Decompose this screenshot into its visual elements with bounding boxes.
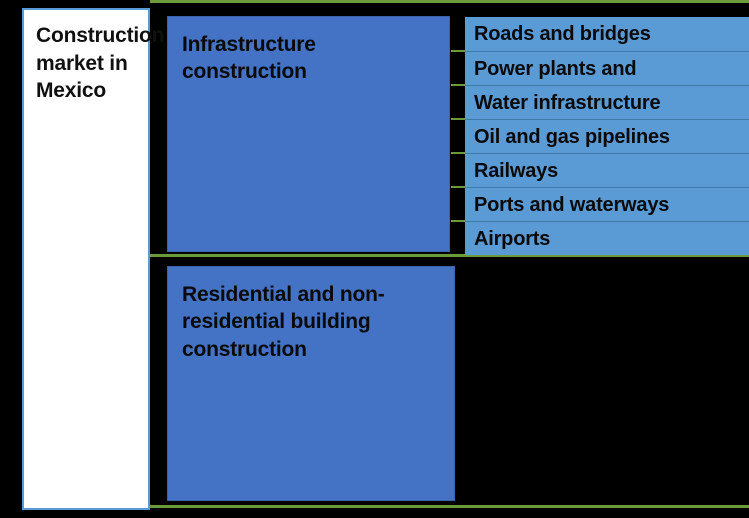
- connector-stub-1: [451, 50, 465, 52]
- leaf-node-label: Ports and waterways: [465, 195, 669, 215]
- diagram-canvas: Construction market in Mexico Infrastruc…: [0, 0, 749, 518]
- leaf-node-airports[interactable]: Airports: [465, 221, 749, 255]
- root-node-label: Construction market in Mexico: [24, 10, 148, 105]
- connector-stub-6: [451, 220, 465, 222]
- leaf-node-label: Water infrastructure: [465, 93, 660, 113]
- branch-node-infrastructure-construction[interactable]: Infrastructure construction: [167, 16, 450, 252]
- leaf-node-list: Roads and bridges Power plants and Water…: [465, 17, 749, 255]
- branch-node-label: Residential and non-residential building…: [168, 267, 454, 363]
- leaf-node-power-plants-and[interactable]: Power plants and: [465, 51, 749, 85]
- root-node-construction-market[interactable]: Construction market in Mexico: [22, 8, 150, 510]
- leaf-node-railways[interactable]: Railways: [465, 153, 749, 187]
- leaf-node-label: Power plants and: [465, 59, 636, 79]
- leaf-node-label: Oil and gas pipelines: [465, 127, 670, 147]
- leaf-node-roads-and-bridges[interactable]: Roads and bridges: [465, 17, 749, 51]
- branch-node-label: Infrastructure construction: [168, 17, 449, 86]
- leaf-node-label: Airports: [465, 229, 550, 249]
- connector-line-top: [150, 0, 749, 3]
- connector-stub-4: [451, 152, 465, 154]
- connector-stub-3: [451, 118, 465, 120]
- connector-stub-5: [451, 186, 465, 188]
- branch-node-residential-building-construction[interactable]: Residential and non-residential building…: [167, 266, 455, 501]
- leaf-node-ports-and-waterways[interactable]: Ports and waterways: [465, 187, 749, 221]
- leaf-node-water-infrastructure[interactable]: Water infrastructure: [465, 85, 749, 119]
- connector-line-bottom: [150, 505, 749, 508]
- connector-stub-2: [451, 84, 465, 86]
- leaf-node-label: Roads and bridges: [465, 24, 651, 44]
- leaf-node-label: Railways: [465, 161, 558, 181]
- leaf-node-oil-and-gas-pipelines[interactable]: Oil and gas pipelines: [465, 119, 749, 153]
